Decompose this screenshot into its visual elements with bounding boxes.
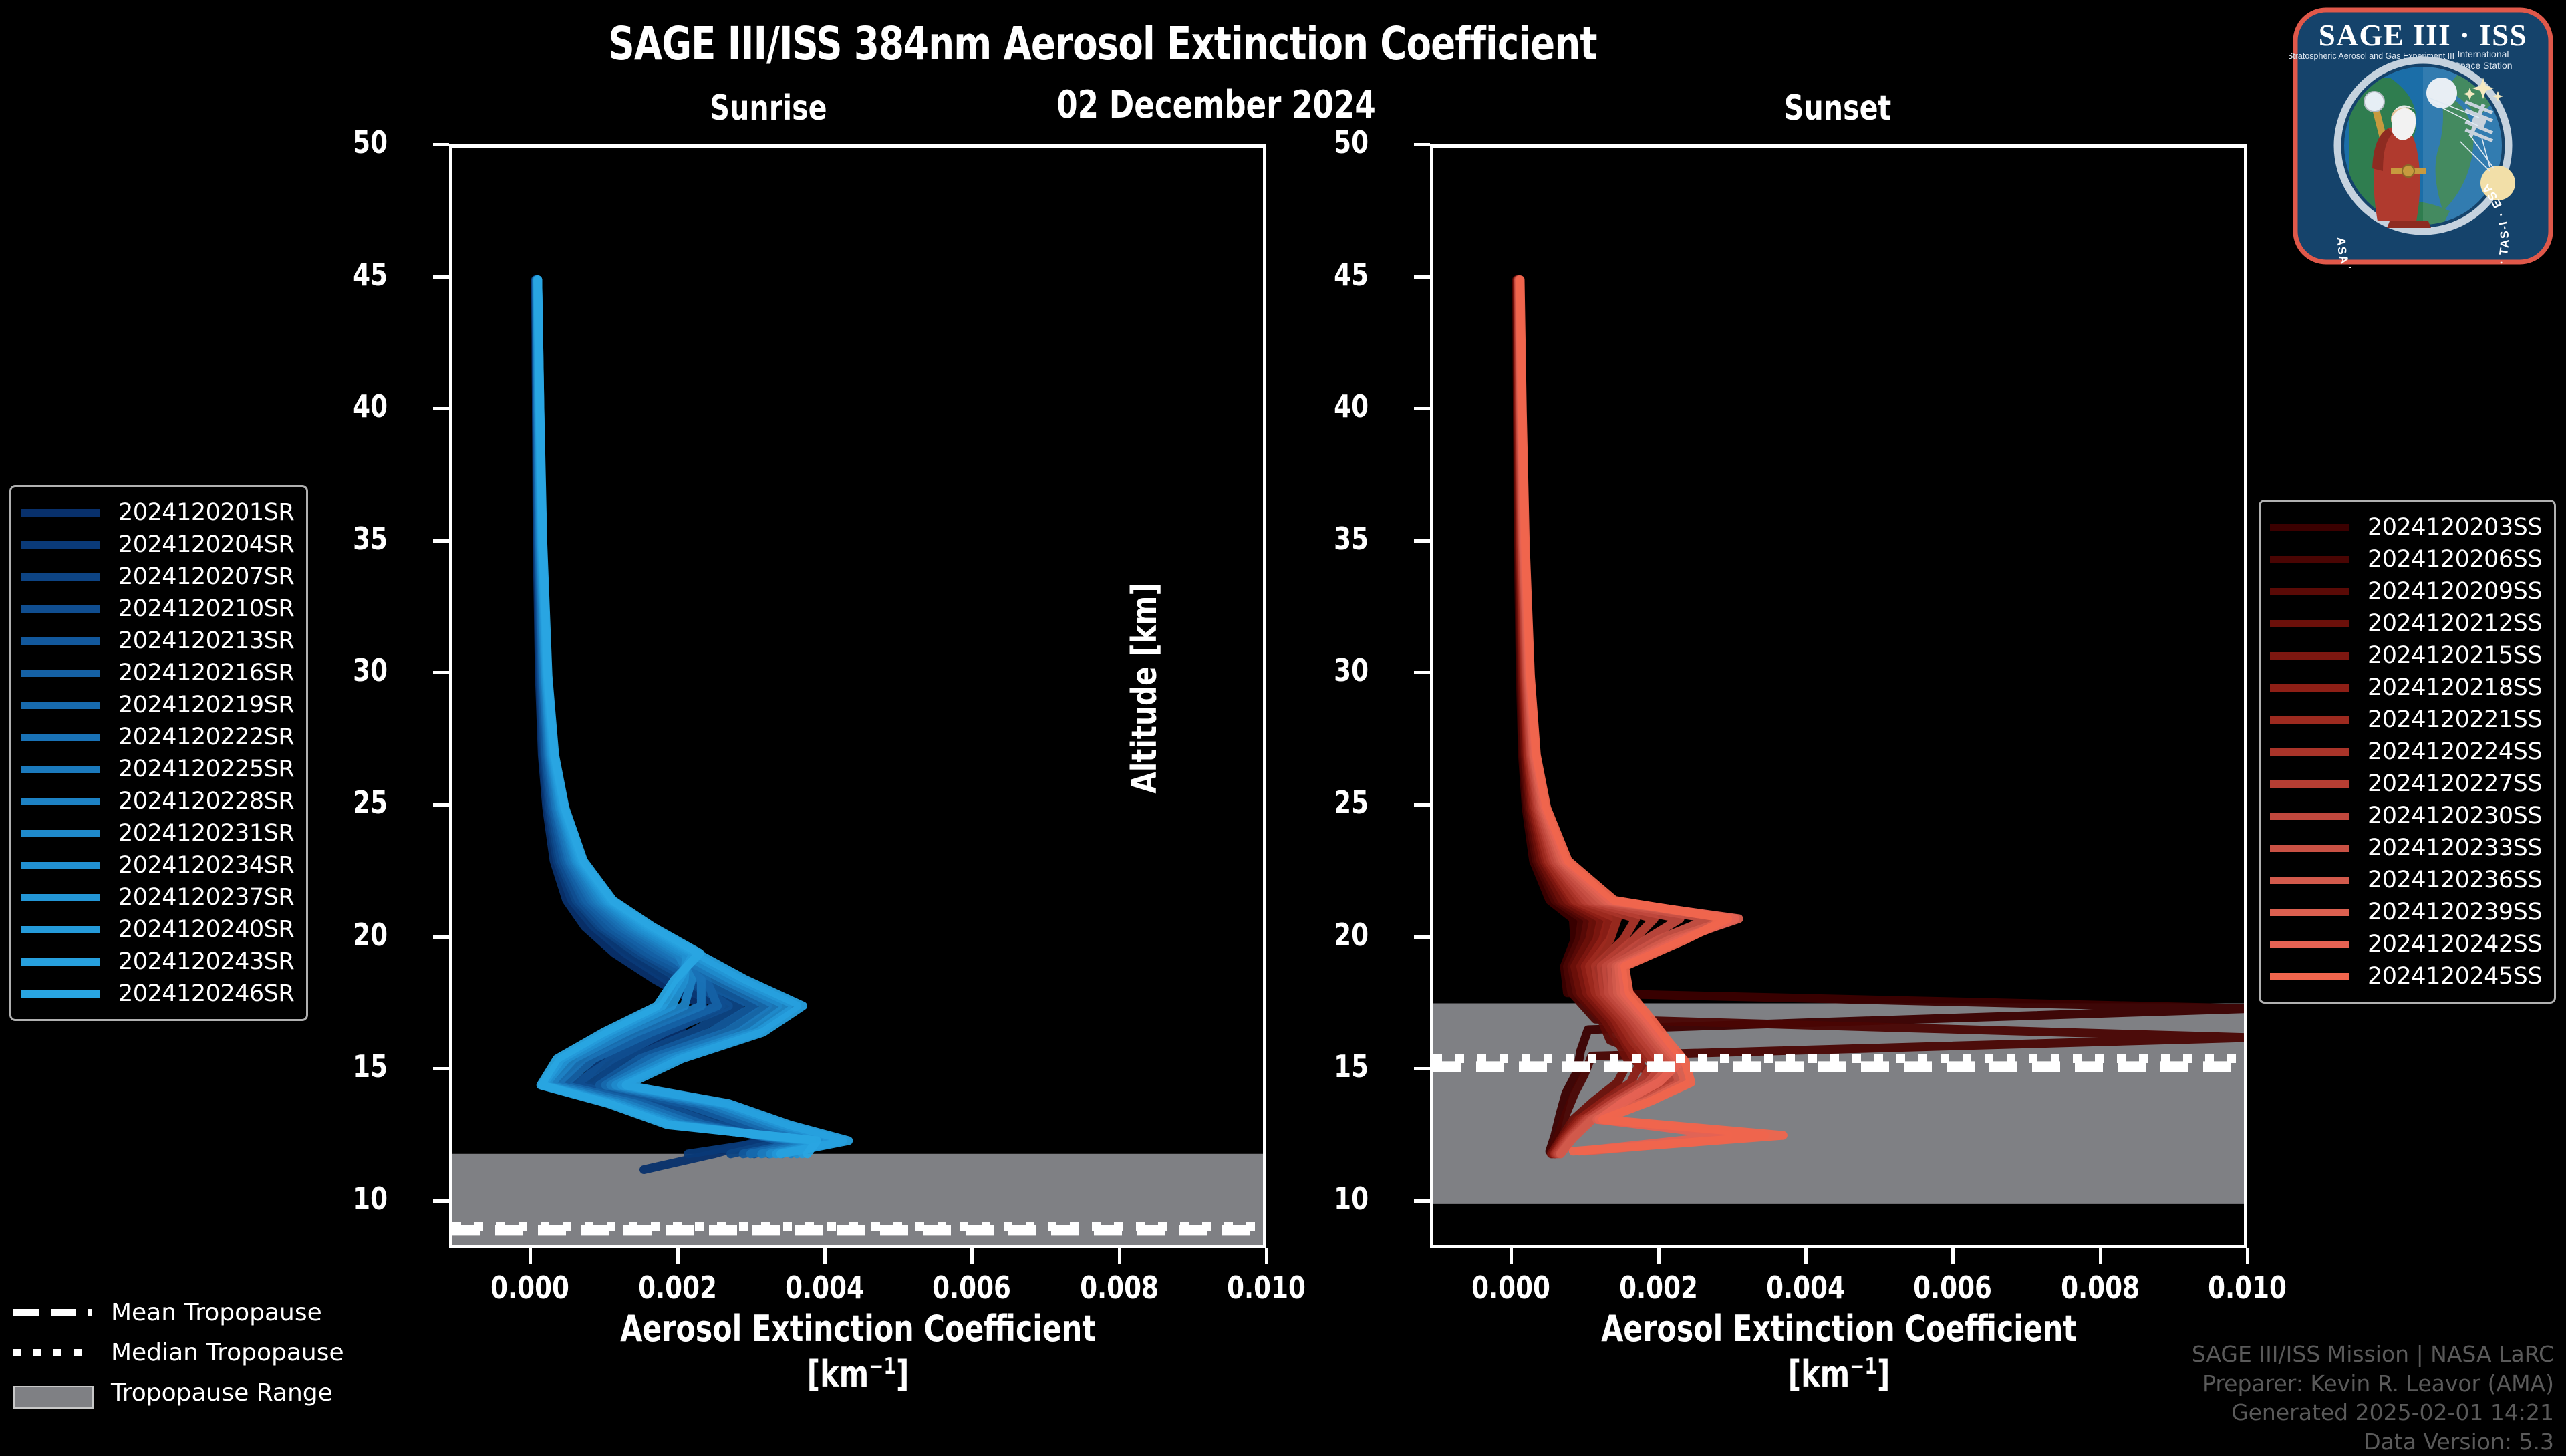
legend-item[interactable]: 2024120230SS — [2270, 800, 2542, 832]
x-tick-mark — [676, 1248, 680, 1264]
legend-item-label: 2024120201SR — [118, 499, 294, 526]
tropopause-key-mean-label: Mean Tropopause — [111, 1299, 322, 1326]
y-tick-label: 35 — [321, 521, 388, 557]
legend-color-swatch — [21, 830, 100, 837]
credits-block: SAGE III/ISS Mission | NASA LaRC Prepare… — [2192, 1340, 2554, 1456]
x-tick-mark — [1265, 1248, 1268, 1264]
tropopause-key-median: Median Tropopause — [13, 1336, 344, 1368]
x-tick-label: 0.008 — [1053, 1270, 1185, 1306]
dashed-line-icon — [13, 1305, 92, 1320]
x-tick-mark — [529, 1248, 532, 1264]
legend-color-swatch — [2270, 588, 2349, 595]
logo-title: SAGE III · ISS — [2319, 19, 2527, 52]
legend-item[interactable]: 2024120243SR — [21, 945, 294, 978]
legend-color-swatch — [21, 766, 100, 773]
y-tick-mark — [1414, 1067, 1430, 1070]
legend-item-label: 2024120221SS — [2368, 706, 2542, 733]
tropopause-key-median-label: Median Tropopause — [111, 1339, 344, 1366]
legend-item[interactable]: 2024120219SR — [21, 689, 294, 721]
legend-item-label: 2024120212SS — [2368, 610, 2542, 637]
sunset-x-axis-title-text: Aerosol Extinction Coefficient — [1601, 1308, 2077, 1350]
y-tick-label: 25 — [1302, 784, 1369, 821]
legend-color-swatch — [2270, 684, 2349, 692]
y-tick-label: 10 — [321, 1181, 388, 1217]
legend-color-swatch — [21, 894, 100, 901]
sage-iii-iss-logo: SAGE III · ISS Stratospheric Aerosol and… — [2289, 4, 2557, 268]
y-tick-mark — [1414, 671, 1430, 674]
legend-color-swatch — [2270, 941, 2349, 948]
sunset-panel-title: Sunset — [1691, 88, 1985, 128]
legend-item-label: 2024120227SS — [2368, 770, 2542, 797]
y-tick-mark — [1414, 407, 1430, 410]
legend-item-label: 2024120216SR — [118, 660, 294, 686]
date-subtitle: 02 December 2024 — [952, 83, 1481, 127]
legend-item[interactable]: 2024120227SS — [2270, 768, 2542, 800]
x-tick-mark — [1804, 1248, 1808, 1264]
legend-item[interactable]: 2024120210SR — [21, 593, 294, 625]
y-tick-label: 35 — [1302, 521, 1369, 557]
y-tick-label: 45 — [1302, 257, 1369, 293]
legend-item-label: 2024120237SR — [118, 884, 294, 911]
legend-color-swatch — [21, 862, 100, 869]
y-tick-mark — [433, 539, 449, 543]
y-tick-label: 40 — [321, 388, 388, 424]
legend-item-label: 2024120207SR — [118, 563, 294, 590]
x-tick-label: 0.006 — [1886, 1270, 2019, 1306]
legend-item-label: 2024120224SS — [2368, 738, 2542, 765]
legend-color-swatch — [2270, 780, 2349, 788]
y-tick-mark — [1414, 539, 1430, 543]
legend-item-label: 2024120231SR — [118, 820, 294, 847]
y-tick-mark — [433, 275, 449, 279]
legend-item-label: 2024120246SR — [118, 980, 294, 1007]
x-tick-label: 0.000 — [464, 1270, 596, 1306]
y-tick-label: 50 — [1302, 124, 1369, 160]
sunrise-x-axis-title: Aerosol Extinction Coefficient [km−1] — [476, 1306, 1240, 1397]
sunset-plot-area — [1430, 144, 2247, 1248]
sunset-x-axis-unit: [km−1] — [1788, 1353, 1890, 1395]
legend-item[interactable]: 2024120207SR — [21, 561, 294, 593]
legend-item-label: 2024120218SS — [2368, 674, 2542, 701]
y-tick-mark — [433, 1199, 449, 1203]
x-tick-label: 0.002 — [611, 1270, 744, 1306]
legend-item-label: 2024120245SS — [2368, 963, 2542, 990]
legend-item[interactable]: 2024120239SS — [2270, 896, 2542, 928]
y-tick-label: 10 — [1302, 1181, 1369, 1217]
y-tick-mark — [1414, 935, 1430, 939]
tropopause-key: Mean Tropopause Median Tropopause Tropop… — [13, 1296, 344, 1417]
legend-item[interactable]: 2024120231SR — [21, 817, 294, 849]
legend-item[interactable]: 2024120209SS — [2270, 575, 2542, 607]
y-tick-mark — [433, 1067, 449, 1070]
legend-item[interactable]: 2024120213SR — [21, 625, 294, 657]
legend-color-swatch — [21, 605, 100, 613]
y-tick-label: 15 — [1302, 1048, 1369, 1084]
x-tick-label: 0.004 — [1739, 1270, 1872, 1306]
legend-item[interactable]: 2024120242SS — [2270, 928, 2542, 960]
legend-item-label: 2024120243SR — [118, 948, 294, 975]
sunrise-panel-title: Sunrise — [621, 88, 915, 128]
legend-color-swatch — [2270, 652, 2349, 660]
legend-color-swatch — [2270, 716, 2349, 724]
legend-color-swatch — [2270, 524, 2349, 531]
y-tick-mark — [433, 143, 449, 146]
legend-item[interactable]: 2024120245SS — [2270, 960, 2542, 992]
y-tick-mark — [1414, 275, 1430, 279]
legend-item[interactable]: 2024120240SR — [21, 913, 294, 945]
legend-item[interactable]: 2024120225SR — [21, 753, 294, 785]
y-tick-label: 20 — [1302, 917, 1369, 953]
legend-item-label: 2024120233SS — [2368, 835, 2542, 861]
x-tick-mark — [1510, 1248, 1513, 1264]
legend-item-label: 2024120215SS — [2368, 642, 2542, 669]
legend-color-swatch — [21, 798, 100, 805]
x-tick-label: 0.010 — [1200, 1270, 1332, 1306]
x-tick-mark — [823, 1248, 827, 1264]
y-tick-label: 50 — [321, 124, 388, 160]
legend-color-swatch — [21, 573, 100, 581]
legend-item-label: 2024120240SR — [118, 916, 294, 943]
credits-generated: Generated 2025-02-01 14:21 — [2192, 1398, 2554, 1427]
legend-color-swatch — [2270, 813, 2349, 820]
x-tick-mark — [1118, 1248, 1121, 1264]
legend-item-label: 2024120225SR — [118, 756, 294, 782]
y-tick-mark — [433, 935, 449, 939]
x-tick-label: 0.000 — [1445, 1270, 1577, 1306]
legend-item[interactable]: 2024120237SR — [21, 881, 294, 913]
x-tick-mark — [1657, 1248, 1661, 1264]
legend-color-swatch — [2270, 909, 2349, 916]
legend-item[interactable]: 2024120201SR — [21, 496, 294, 529]
credits-data-version: Data Version: 5.3 — [2192, 1427, 2554, 1456]
x-tick-mark — [1951, 1248, 1955, 1264]
legend-item[interactable]: 2024120233SS — [2270, 832, 2542, 864]
y-tick-mark — [1414, 1199, 1430, 1203]
legend-color-swatch — [21, 958, 100, 966]
legend-item[interactable]: 2024120246SR — [21, 978, 294, 1010]
legend-item[interactable]: 2024120222SR — [21, 721, 294, 753]
tropopause-key-range-label: Tropopause Range — [111, 1379, 333, 1407]
x-tick-label: 0.008 — [2034, 1270, 2166, 1306]
y-tick-label: 15 — [321, 1048, 388, 1084]
legend-item-label: 2024120203SS — [2368, 514, 2542, 541]
legend-item-label: 2024120230SS — [2368, 803, 2542, 829]
legend-color-swatch — [21, 670, 100, 677]
legend-color-swatch — [2270, 845, 2349, 852]
y-tick-mark — [433, 671, 449, 674]
legend-item[interactable]: 2024120236SS — [2270, 864, 2542, 896]
legend-item-label: 2024120228SR — [118, 788, 294, 815]
legend-item[interactable]: 2024120218SS — [2270, 672, 2542, 704]
legend-item-label: 2024120242SS — [2368, 931, 2542, 958]
x-tick-mark — [970, 1248, 974, 1264]
legend-item-label: 2024120234SR — [118, 852, 294, 879]
legend-item[interactable]: 2024120203SS — [2270, 511, 2542, 543]
y-tick-mark — [1414, 803, 1430, 807]
logo-moon — [2426, 78, 2457, 108]
page-title: SAGE III/ISS 384nm Aerosol Extinction Co… — [132, 17, 2073, 71]
legend-color-swatch — [21, 926, 100, 933]
legend-item[interactable]: 2024120206SS — [2270, 543, 2542, 575]
legend-item[interactable]: 2024120234SR — [21, 849, 294, 881]
legend-item[interactable]: 2024120224SS — [2270, 736, 2542, 768]
legend-color-swatch — [2270, 877, 2349, 884]
legend-color-swatch — [21, 509, 100, 517]
legend-color-swatch — [21, 702, 100, 709]
legend-item-label: 2024120204SR — [118, 531, 294, 558]
sunrise-legend[interactable]: 2024120201SR2024120204SR2024120207SR2024… — [9, 485, 308, 1021]
credits-mission: SAGE III/ISS Mission | NASA LaRC — [2192, 1340, 2554, 1369]
x-tick-label: 0.010 — [2181, 1270, 2313, 1306]
legend-color-swatch — [2270, 620, 2349, 627]
legend-color-swatch — [2270, 973, 2349, 980]
legend-item[interactable]: 2024120215SS — [2270, 639, 2542, 672]
legend-item-label: 2024120209SS — [2368, 578, 2542, 605]
tropopause-key-mean: Mean Tropopause — [13, 1296, 344, 1328]
legend-item[interactable]: 2024120228SR — [21, 785, 294, 817]
x-tick-label: 0.004 — [758, 1270, 891, 1306]
legend-item[interactable]: 2024120204SR — [21, 529, 294, 561]
sunset-y-axis-title: Altitude [km] — [1125, 568, 1165, 809]
legend-item-label: 2024120213SR — [118, 627, 294, 654]
legend-item-label: 2024120236SS — [2368, 867, 2542, 893]
legend-color-swatch — [2270, 748, 2349, 756]
y-tick-label: 20 — [321, 917, 388, 953]
legend-item[interactable]: 2024120212SS — [2270, 607, 2542, 639]
x-tick-mark — [2246, 1248, 2249, 1264]
y-tick-mark — [1414, 143, 1430, 146]
legend-item-label: 2024120222SR — [118, 724, 294, 750]
logo-subtitle-right-1: International — [2457, 49, 2509, 59]
legend-item-label: 2024120219SR — [118, 692, 294, 718]
sunrise-x-axis-unit: [km−1] — [807, 1353, 909, 1395]
legend-item-label: 2024120206SS — [2368, 546, 2542, 573]
y-tick-mark — [433, 803, 449, 807]
y-tick-mark — [433, 407, 449, 410]
sunset-x-axis-title: Aerosol Extinction Coefficient [km−1] — [1457, 1306, 2221, 1397]
legend-color-swatch — [21, 637, 100, 645]
legend-item-label: 2024120210SR — [118, 595, 294, 622]
sunset-legend[interactable]: 2024120203SS2024120206SS2024120209SS2024… — [2259, 500, 2556, 1004]
legend-item[interactable]: 2024120216SR — [21, 657, 294, 689]
y-tick-label: 25 — [321, 784, 388, 821]
legend-item-label: 2024120239SS — [2368, 899, 2542, 925]
filled-band-icon — [13, 1385, 92, 1400]
y-tick-label: 40 — [1302, 388, 1369, 424]
legend-color-swatch — [21, 541, 100, 549]
legend-color-swatch — [21, 734, 100, 741]
x-tick-mark — [2099, 1248, 2102, 1264]
x-tick-label: 0.002 — [1592, 1270, 1725, 1306]
y-tick-label: 30 — [321, 652, 388, 688]
sunrise-x-axis-title-text: Aerosol Extinction Coefficient — [620, 1308, 1096, 1350]
credits-preparer: Preparer: Kevin R. Leavor (AMA) — [2192, 1369, 2554, 1399]
y-tick-label: 45 — [321, 257, 388, 293]
legend-color-swatch — [21, 990, 100, 998]
tropopause-key-range: Tropopause Range — [13, 1376, 344, 1409]
legend-color-swatch — [2270, 556, 2349, 563]
x-tick-label: 0.006 — [905, 1270, 1038, 1306]
y-tick-label: 30 — [1302, 652, 1369, 688]
legend-item[interactable]: 2024120221SS — [2270, 704, 2542, 736]
dotted-line-icon — [13, 1345, 92, 1360]
